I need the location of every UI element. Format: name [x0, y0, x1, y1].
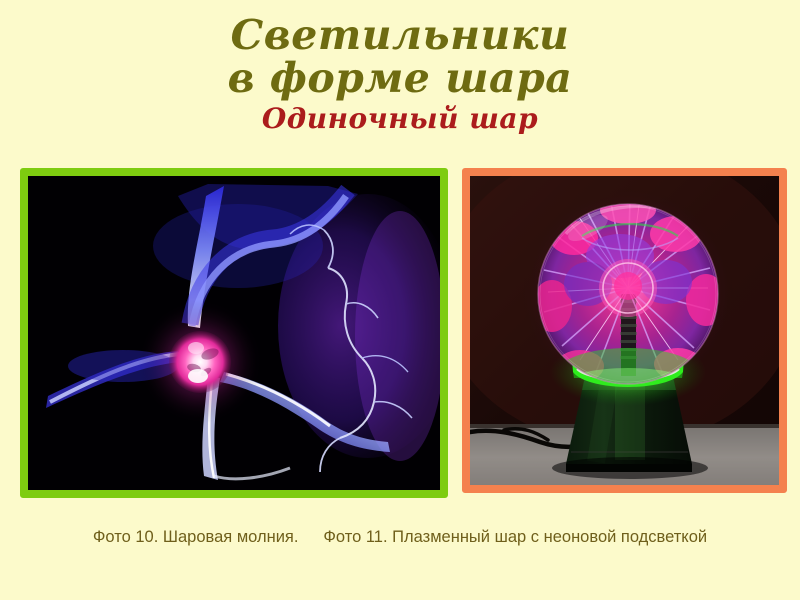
title-block: Светильники в форме шара Одиночный шар — [0, 14, 800, 134]
subtitle: Одиночный шар — [0, 104, 800, 134]
photo-frame-plasma-ball — [462, 168, 787, 493]
photo-ball-lightning — [28, 176, 440, 490]
title-line-1: Светильники — [0, 14, 800, 57]
photo-frame-ball-lightning — [20, 168, 448, 498]
title-line-2: в форме шара — [0, 57, 800, 100]
caption-row: Фото 10. Шаровая молния. Фото 11. Плазме… — [0, 528, 800, 547]
caption-right: Фото 11. Плазменный шар с неоновой подсв… — [323, 528, 707, 546]
slide: Светильники в форме шара Одиночный шар — [0, 0, 800, 600]
caption-left: Фото 10. Шаровая молния. — [93, 528, 299, 546]
photo-plasma-ball — [470, 176, 779, 485]
